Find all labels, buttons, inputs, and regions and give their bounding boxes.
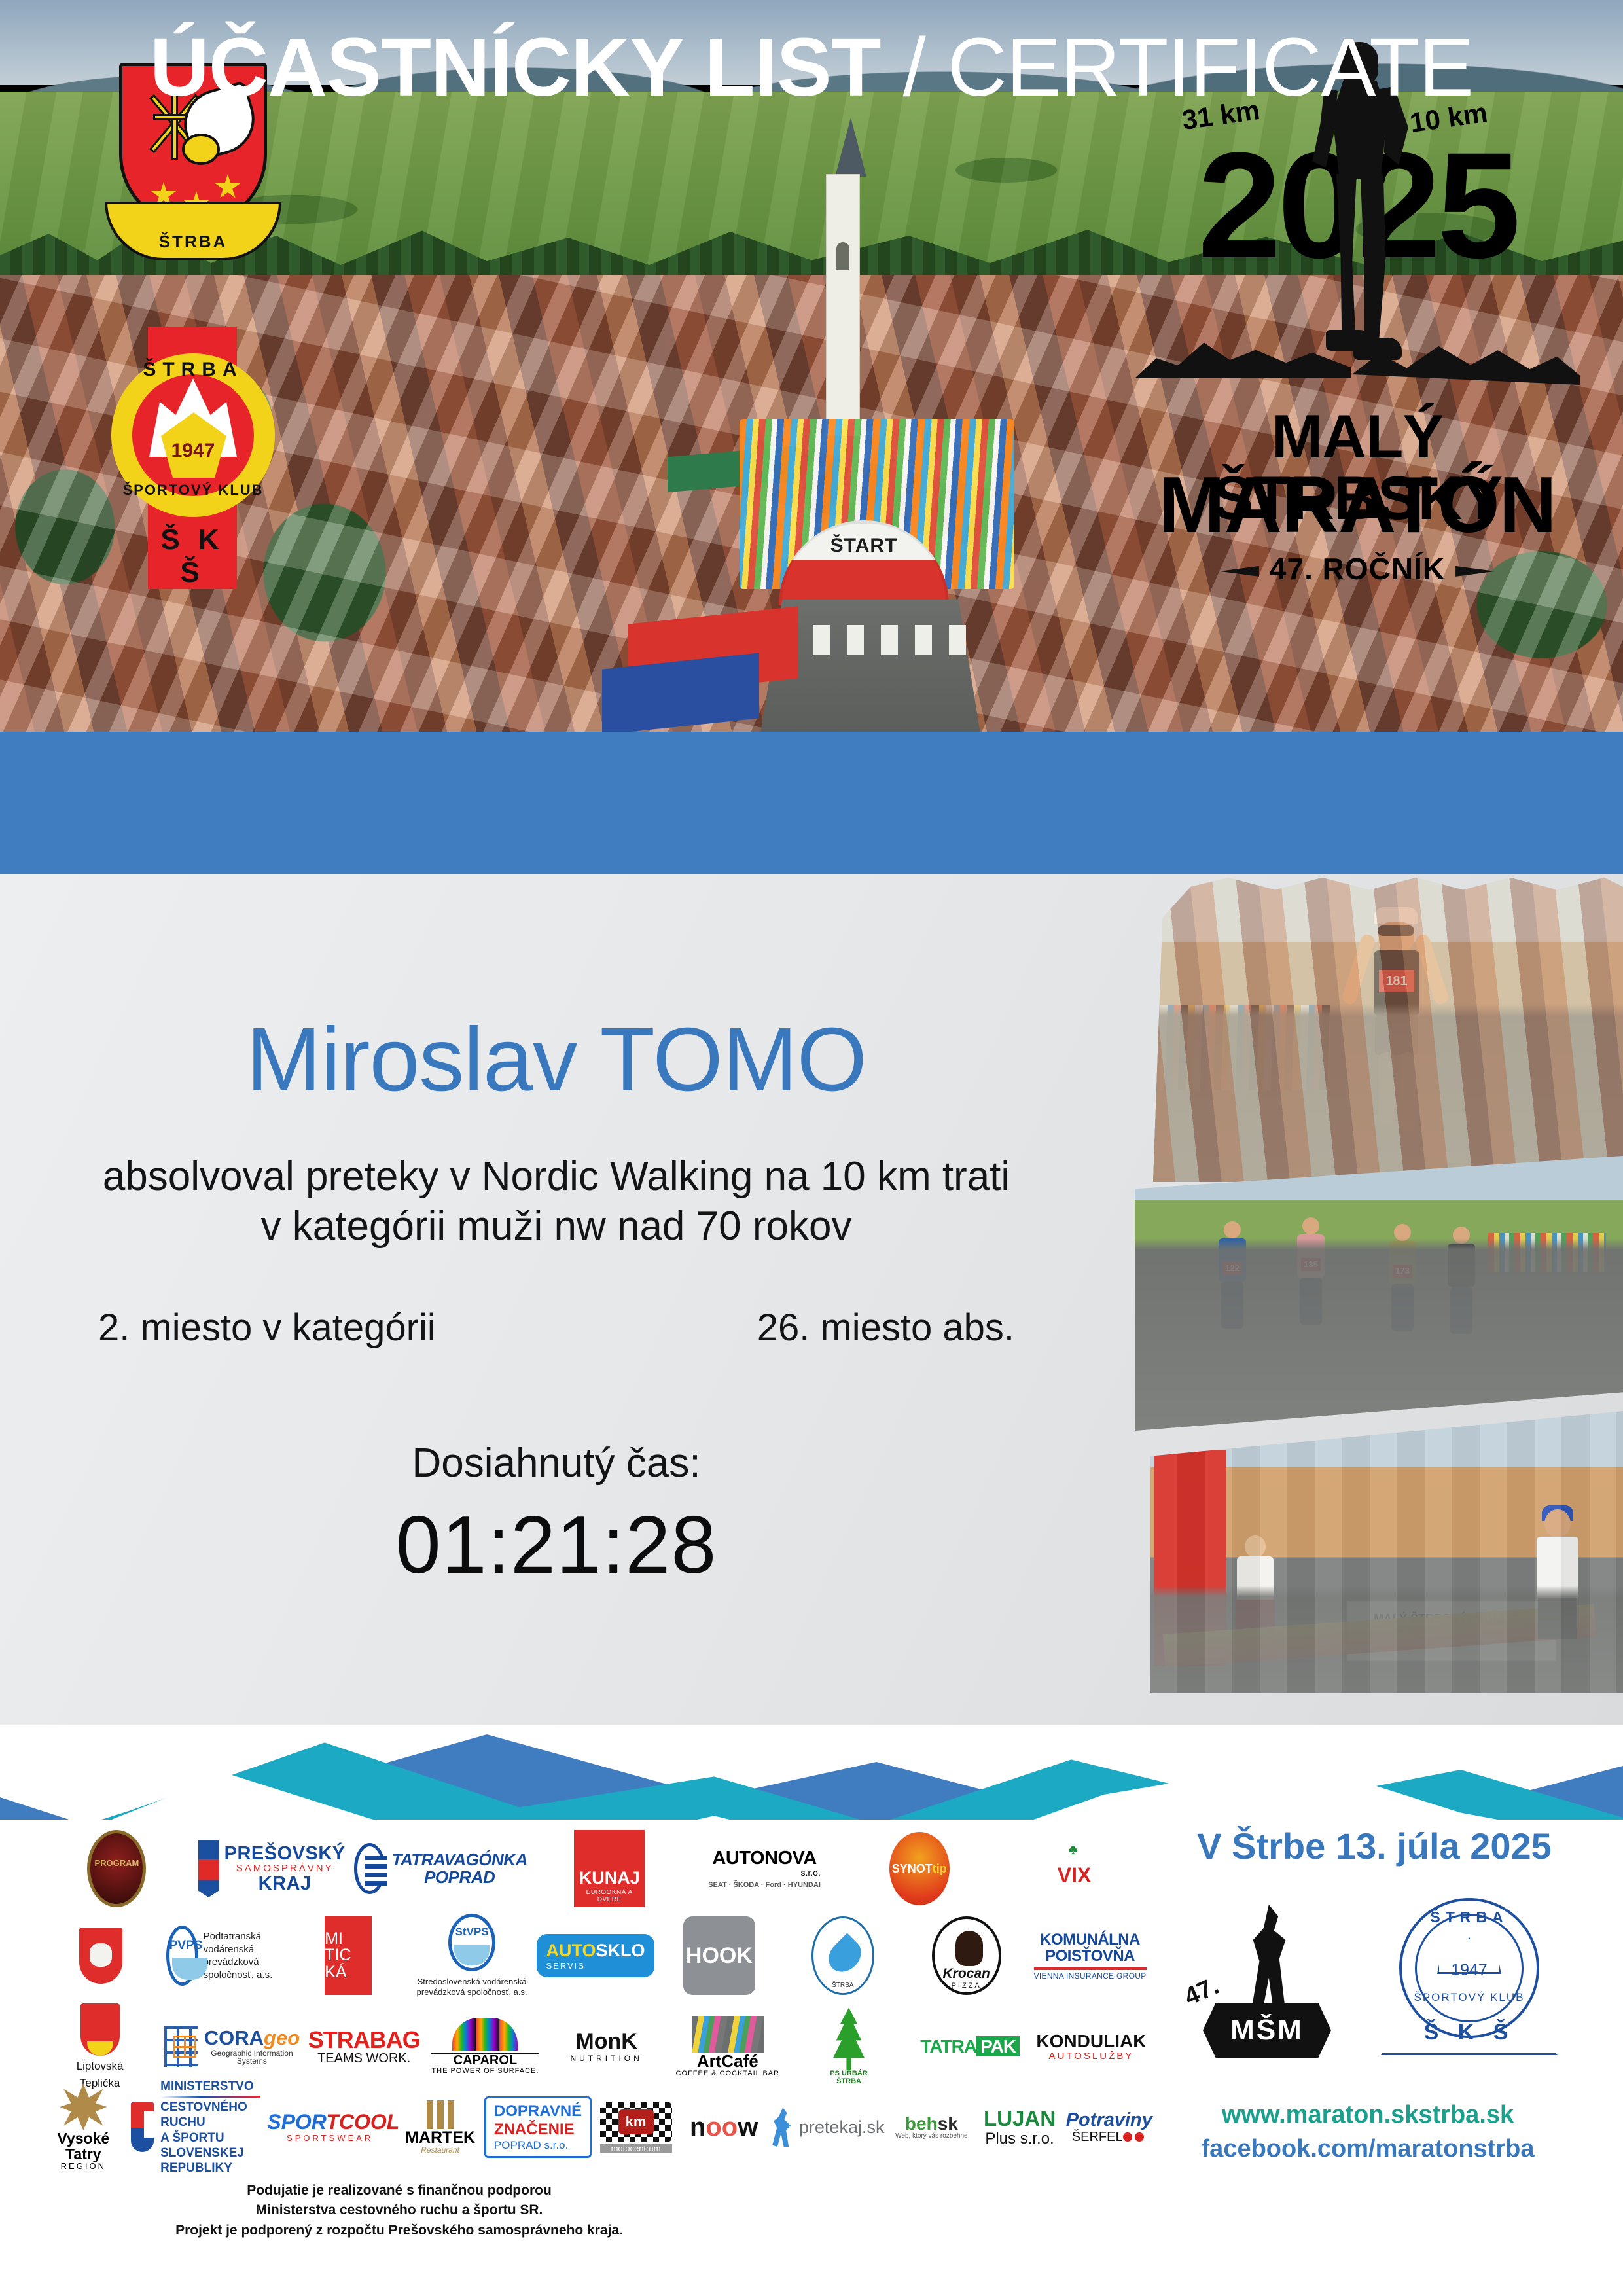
autosklo-name2: SKLO bbox=[596, 1941, 645, 1960]
placements: 2. miesto v kategórii 26. miesto abs. bbox=[0, 1306, 1113, 1350]
konduliak-sub: AUTOSLUŽBY bbox=[1036, 2051, 1146, 2062]
sponsor-synottip: SYNOTtip bbox=[842, 1826, 997, 1911]
krocan-logo-icon: Krocan PIZZA bbox=[932, 1916, 1001, 1995]
potraviny-name: Potraviny bbox=[1066, 2110, 1150, 2130]
photo-runners-on-road: 122 135 173 bbox=[1135, 1156, 1623, 1431]
sponsor-vix: ♣ VIX bbox=[997, 1826, 1152, 1911]
absolute-place: 26. miesto abs. bbox=[757, 1306, 1014, 1350]
dz-name: DOPRAVNÉ bbox=[494, 2102, 582, 2120]
club-stamp-icon: ŠTRBA 1947 ŠPORTOVÝ KLUB Š K Š bbox=[1381, 1898, 1558, 2068]
kunaj-logo-icon: KUNAJ EUROOKNÁ A DVERE bbox=[574, 1830, 645, 1907]
sponsor-artcafe: ArtCafé COFFEE & COCKTAIL BAR bbox=[667, 2004, 788, 2089]
sponsor-vysoke-tatry: Vysoké Tatry REGIÓN bbox=[39, 2088, 128, 2166]
sponsor-martek: MARTEK Restaurant bbox=[396, 2088, 484, 2166]
title-sk: ÚČASTNÍCKY LIST bbox=[150, 21, 881, 113]
vt-name: Vysoké Tatry bbox=[41, 2130, 125, 2162]
caparol-sub: THE POWER OF SURFACE. bbox=[431, 2068, 539, 2075]
photo-collage: 181 122 135 173 MALÝ ŠTRBSKÝ MARATÓN bbox=[1106, 874, 1623, 1699]
description-line-2: v kategórii muži nw nad 70 rokov bbox=[0, 1202, 1113, 1251]
sponsor-grid: PROGRAM PREŠOVSKÝ SAMOSPRÁVNY KRAJ bbox=[39, 1820, 1152, 2186]
finish-banner-text: MALÝ ŠTRBSKÝ MARATÓN bbox=[1348, 1610, 1555, 1628]
bib-number-b: 135 bbox=[1301, 1258, 1321, 1271]
event-logo: 2025 31 km 10 km MALÝ ŠTRBSKÝ MARATÓN 47… bbox=[1128, 39, 1586, 589]
turkey-icon bbox=[955, 1931, 983, 1966]
artcafe-sub: COFFEE & COCKTAIL BAR bbox=[676, 2070, 780, 2078]
achievement-description: absolvoval preteky v Nordic Walking na 1… bbox=[0, 1152, 1113, 1251]
support-statement: Podujatie je realizované s finančnou pod… bbox=[39, 2181, 759, 2240]
vt-sub: REGIÓN bbox=[41, 2162, 125, 2171]
strba-shield-icon bbox=[79, 1928, 122, 1984]
finish-arch bbox=[1154, 1450, 1226, 1666]
sponsor-km-motocentrum: km motocentrum bbox=[592, 2088, 680, 2166]
recipient-name: Miroslav TOMO bbox=[0, 1008, 1113, 1112]
stamp-bottom-text: Š K Š bbox=[1381, 2020, 1558, 2045]
artcafe-name: ArtCafé bbox=[676, 2053, 780, 2070]
sponsor-komunalna-poistovna: KOMUNÁLNA POISŤOVŇA VIENNA INSURANCE GRO… bbox=[1028, 1910, 1152, 2001]
footer-right: V Štrbe 13. júla 2025 47. MŠM ŠTRBA 1947… bbox=[1158, 1820, 1590, 2296]
krocan-name: Krocan bbox=[935, 1966, 999, 1982]
dz-sub: POPRAD s.r.o. bbox=[494, 2139, 582, 2152]
sportcool-sub: SPORTSWEAR bbox=[267, 2134, 393, 2143]
edelweiss-icon bbox=[60, 2083, 107, 2130]
lujan-name: LUJAN bbox=[984, 2108, 1056, 2130]
club-logo-bottom-text: ŠPORTOVÝ KLUB bbox=[111, 482, 275, 499]
sponsor-presovsky-kraj: PREŠOVSKÝ SAMOSPRÁVNY KRAJ bbox=[194, 1826, 349, 1911]
cora-sub: Geographic Information Systems bbox=[204, 2049, 300, 2066]
event-edition: 47. ROČNÍK bbox=[1128, 551, 1586, 586]
stvps-emblem-icon: StVPS bbox=[448, 1914, 495, 1971]
coat-of-arms-label: ŠTRBA bbox=[107, 232, 279, 252]
arrow-right-icon bbox=[1455, 566, 1495, 577]
stamp-middle-text: ŠPORTOVÝ KLUB bbox=[1399, 1991, 1539, 2004]
pvps-sub: Podtatranská vodárenská bbox=[204, 1930, 283, 1956]
sponsor-strba-shield bbox=[39, 1910, 163, 2001]
min-sub: CESTOVNÉHO RUCHU bbox=[160, 2100, 260, 2130]
sponsor-row-2: PVPS Podtatranská vodárenská prevádzková… bbox=[39, 1910, 1152, 2001]
runner-b: 135 bbox=[1292, 1217, 1329, 1335]
msm-badge-icon: 47. MŠM bbox=[1185, 1905, 1348, 2062]
stvps-name: StVPS bbox=[452, 1926, 492, 1938]
stvps-sub: Stredoslovenská vodárenská bbox=[417, 1977, 527, 1987]
autonova-brands: SEAT · ŠKODA · Ford · HYUNDAI bbox=[708, 1882, 821, 1890]
bib-number: 181 bbox=[1379, 970, 1414, 992]
finish-banner: MALÝ ŠTRBSKÝ MARATÓN bbox=[1347, 1601, 1556, 1661]
caparol-name: CAPAROL bbox=[431, 2053, 539, 2068]
noow-name: n bbox=[690, 2113, 705, 2142]
tatravagonka-sub: POPRAD bbox=[392, 1869, 527, 1886]
noow-name3: w bbox=[738, 2113, 758, 2142]
vix-name: VIX bbox=[1036, 1863, 1113, 1888]
cora-name: CORA bbox=[204, 2026, 264, 2049]
stamp-year: 1947 bbox=[1415, 1961, 1524, 1980]
club-logo-top-text: ŠTRBA bbox=[111, 359, 275, 381]
cora-name2: geo bbox=[264, 2026, 300, 2049]
support-line-2: Ministerstva cestovného ruchu a športu S… bbox=[39, 2200, 759, 2220]
photo-female-finisher: 181 bbox=[1153, 874, 1623, 1182]
min-name: MINISTERSTVO bbox=[160, 2079, 260, 2094]
arrow-left-icon bbox=[1220, 566, 1259, 577]
kp-name2: POISŤOVŇA bbox=[1034, 1948, 1147, 1964]
tatravagonka-name: TATRAVAGÓNKA bbox=[392, 1851, 527, 1869]
vix-logo-icon: ♣ VIX bbox=[1036, 1835, 1113, 1903]
runner-d bbox=[1442, 1227, 1479, 1344]
photo-male-winner: MALÝ ŠTRBSKÝ MARATÓN bbox=[1150, 1411, 1623, 1693]
sponsor-dopravne-znacenie: DOPRAVNÉ ZNAČENIE POPRAD s.r.o. bbox=[484, 2088, 592, 2166]
sponsor-monk: MonK NUTRITION bbox=[546, 2004, 667, 2089]
synottip-name2: tip bbox=[933, 1862, 947, 1875]
km-sub: motocentrum bbox=[600, 2144, 672, 2153]
strabag-sub: TEAMS WORK. bbox=[308, 2052, 420, 2066]
sportcool-name: SPOR bbox=[267, 2110, 326, 2134]
sponsor-ps-urbar-strba: PS URBÁR ŠTRBA bbox=[788, 2004, 909, 2089]
bib-number-a: 122 bbox=[1222, 1262, 1242, 1275]
sponsor-row-4: Vysoké Tatry REGIÓN MINISTERSTVO CESTOVN… bbox=[39, 2088, 1152, 2166]
sponsor-sportcool: SPORTCOOL SPORTSWEAR bbox=[264, 2088, 396, 2166]
sponsor-autosklo: AUTOSKLO SERVIS bbox=[534, 1910, 658, 2001]
sponsor-kunaj: KUNAJ EUROOKNÁ A DVERE bbox=[532, 1826, 687, 1911]
sponsor-row-3: Liptovská Teplička CORAgeo Geographic In… bbox=[39, 2004, 1152, 2089]
behsk-name: beh bbox=[905, 2113, 938, 2134]
program-trencin-logo-icon: PROGRAM bbox=[87, 1830, 146, 1907]
bib-number-c: 173 bbox=[1393, 1265, 1412, 1278]
sponsor-ministerstvo: MINISTERSTVO CESTOVNÉHO RUCHU A ŠPORTU S… bbox=[128, 2088, 264, 2166]
caparol-elephant-icon bbox=[452, 2018, 518, 2051]
msm-abbrev: MŠM bbox=[1203, 2003, 1331, 2058]
crosswalk bbox=[779, 625, 969, 655]
liptovska-shield-icon bbox=[80, 2003, 120, 2056]
event-edition-label: 47. ROČNÍK bbox=[1270, 552, 1445, 586]
event-name-line2: MARATÓN bbox=[1128, 465, 1586, 545]
facebook-link[interactable]: facebook.com/maratonstrba bbox=[1139, 2135, 1597, 2163]
martek-name: MARTEK bbox=[405, 2129, 475, 2146]
monk-sub: NUTRITION bbox=[570, 2054, 642, 2063]
program-trencin-label: PROGRAM bbox=[90, 1858, 143, 1868]
title-en: CERTIFICATE bbox=[948, 21, 1473, 113]
support-line-3: Projekt je podporený z rozpočtu Prešovsk… bbox=[39, 2221, 759, 2240]
sports-club-logo-icon: ŠTRBA 1947 ŠPORTOVÝ KLUB Š K Š bbox=[98, 327, 288, 589]
miticka-name: MI TIC KÁ bbox=[325, 1931, 372, 1981]
page-title: ÚČASTNÍCKY LIST / CERTIFICATE bbox=[0, 20, 1623, 115]
monk-name: MonK bbox=[570, 2030, 642, 2054]
liptovska-name: Liptovská bbox=[77, 2060, 124, 2073]
pd-strba-logo-icon: ŠTRBA bbox=[811, 1916, 874, 1995]
sponsor-corageo: CORAgeo Geographic Information Systems bbox=[160, 2004, 303, 2089]
lujan-sub: Plus s.r.o. bbox=[984, 2130, 1056, 2147]
slovak-coat-of-arms-icon bbox=[131, 2102, 154, 2152]
category-place: 2. miesto v kategórii bbox=[98, 1306, 436, 1350]
sponsor-konduliak: KONDULIAK AUTOSLUŽBY bbox=[1031, 2004, 1152, 2089]
finisher-figure: 181 bbox=[1346, 907, 1444, 1149]
presovsky-sub: SAMOSPRÁVNY bbox=[224, 1863, 346, 1874]
sponsor-tatrapak: TATRAPAK bbox=[910, 2004, 1031, 2089]
runners-icon bbox=[771, 2108, 794, 2147]
sponsor-beh-sk: behsk Web, ktorý vás rozbehne bbox=[887, 2088, 976, 2166]
date-place: V Štrbe 13. júla 2025 bbox=[1158, 1825, 1590, 1867]
potraviny-sub: ŠERFEL bbox=[1072, 2130, 1123, 2144]
urbar-sub: ŠTRBA bbox=[829, 2078, 868, 2086]
finish-time: 01:21:28 bbox=[0, 1499, 1113, 1592]
noow-name2: oo bbox=[705, 2113, 738, 2142]
km-name: km bbox=[618, 2109, 654, 2134]
sponsor-miticka: MI TIC KÁ bbox=[287, 1910, 410, 2001]
sponsor-autonova: AUTONOVA s.r.o. SEAT · ŠKODA · Ford · HY… bbox=[687, 1826, 842, 1911]
club-logo-year: 1947 bbox=[132, 440, 254, 462]
behsk-name2: sk bbox=[938, 2113, 958, 2134]
miticka-logo-icon: MI TIC KÁ bbox=[325, 1916, 372, 1995]
dopravne-znacenie-logo-icon: DOPRAVNÉ ZNAČENIE POPRAD s.r.o. bbox=[484, 2096, 592, 2158]
autonova-name: AUTONOVA bbox=[708, 1848, 821, 1868]
dz-name2: ZNAČENIE bbox=[494, 2121, 575, 2138]
folk-costume-girl bbox=[1229, 1535, 1281, 1666]
sponsor-program-trencin: PROGRAM bbox=[39, 1826, 194, 1911]
sponsor-liptovska-teplicka: Liptovská Teplička bbox=[39, 2004, 160, 2089]
sponsor-stvps: StVPS Stredoslovenská vodárenská prevádz… bbox=[410, 1910, 534, 2001]
tree-icon bbox=[829, 2007, 868, 2070]
vix-clover-icon: ♣ bbox=[1069, 1841, 1078, 1858]
kunaj-name: KUNAJ bbox=[574, 1868, 645, 1888]
hook-name: HOOK bbox=[686, 1943, 753, 1969]
sponsor-lujan: LUJAN Plus s.r.o. bbox=[976, 2088, 1064, 2166]
krocan-sub: PIZZA bbox=[935, 1982, 999, 1990]
sportcool-name2: TCOOL bbox=[326, 2110, 399, 2134]
finish-tape bbox=[1163, 1604, 1596, 1667]
start-arch-label: ŠTART bbox=[779, 535, 949, 557]
runner-pack bbox=[1488, 1233, 1606, 1272]
pd-strba-sub: ŠTRBA bbox=[813, 1982, 872, 1989]
stamp-top-text: ŠTRBA bbox=[1399, 1909, 1539, 1926]
kp-name: KOMUNÁLNA bbox=[1034, 1931, 1147, 1948]
pvps-sub2: prevádzková spoločnosť, a.s. bbox=[204, 1956, 283, 1981]
spectators bbox=[1160, 1005, 1330, 1090]
hook-logo-icon: HOOK bbox=[683, 1916, 755, 1995]
artcafe-bars-icon bbox=[692, 2016, 764, 2053]
sponsor-noow: noow bbox=[680, 2088, 768, 2166]
sponsor-caparol: CAPAROL THE POWER OF SURFACE. bbox=[425, 2004, 546, 2089]
sponsor-krocan: Krocan PIZZA bbox=[904, 1910, 1028, 2001]
behsk-sub: Web, ktorý vás rozbehne bbox=[895, 2133, 967, 2140]
title-separator: / bbox=[881, 21, 948, 113]
pvps-emblem-icon: PVPS bbox=[166, 1926, 198, 1986]
support-line-1: Podujatie je realizované s finančnou pod… bbox=[39, 2181, 759, 2200]
winner-figure bbox=[1517, 1509, 1596, 1679]
sponsor-row-1: PROGRAM PREŠOVSKÝ SAMOSPRÁVNY KRAJ bbox=[39, 1826, 1152, 1911]
strabag-name: STRABAG bbox=[308, 2028, 420, 2053]
presovsky-flag-icon bbox=[198, 1840, 219, 1897]
sponsor-hook: HOOK bbox=[657, 1910, 781, 2001]
time-label: Dosiahnutý čas: bbox=[0, 1440, 1113, 1486]
sponsor-pretekaj-sk: pretekaj.sk bbox=[768, 2088, 887, 2166]
runner-a: 122 bbox=[1213, 1221, 1250, 1339]
presovsky-sub2: KRAJ bbox=[224, 1874, 346, 1893]
min-sub2: A ŠPORTU bbox=[160, 2130, 260, 2145]
min-sub3: SLOVENSKEJ REPUBLIKY bbox=[160, 2145, 260, 2176]
kunaj-sub: EUROOKNÁ A DVERE bbox=[574, 1889, 645, 1903]
pretekaj-name: pretekaj.sk bbox=[799, 2118, 885, 2136]
presovsky-name: PREŠOVSKÝ bbox=[224, 1844, 346, 1863]
pvps-name: PVPS bbox=[169, 1939, 195, 1952]
synottip-logo-icon: SYNOTtip bbox=[889, 1832, 950, 1905]
kp-sub: VIENNA INSURANCE GROUP bbox=[1034, 1972, 1147, 1981]
description-line-1: absolvoval preteky v Nordic Walking na 1… bbox=[0, 1152, 1113, 1202]
sponsor-strabag: STRABAG TEAMS WORK. bbox=[304, 2004, 425, 2089]
footer: PROGRAM PREŠOVSKÝ SAMOSPRÁVNY KRAJ bbox=[0, 1820, 1623, 2296]
sponsor-pvps: PVPS Podtatranská vodárenská prevádzková… bbox=[163, 1910, 287, 2001]
autosklo-sub: SERVIS bbox=[546, 1961, 645, 1971]
tatravagonka-emblem-icon bbox=[354, 1843, 385, 1894]
konduliak-name: KONDULIAK bbox=[1036, 2032, 1146, 2051]
martek-sub: Restaurant bbox=[405, 2146, 475, 2155]
checkered-flag-icon: km bbox=[600, 2102, 672, 2142]
sponsor-pd-strba: ŠTRBA bbox=[781, 1910, 904, 2001]
synottip-name: SYNOT bbox=[892, 1862, 933, 1875]
corageo-grid-icon bbox=[164, 2026, 198, 2067]
tatrapak-name: TATRA bbox=[920, 2036, 976, 2056]
mountain-ridge-icon bbox=[1135, 321, 1580, 406]
runner-c: 173 bbox=[1383, 1224, 1420, 1342]
tatrapak-name2: PAK bbox=[976, 2036, 1020, 2056]
autonova-sub: s.r.o. bbox=[708, 1868, 821, 1878]
cutlery-icon bbox=[405, 2100, 475, 2129]
stvps-sub2: prevádzková spoločnosť, a.s. bbox=[417, 1987, 527, 1998]
website-link[interactable]: www.maraton.skstrba.sk bbox=[1139, 2101, 1597, 2129]
church-tower bbox=[811, 118, 890, 432]
sponsor-tatravagonka: TATRAVAGÓNKA POPRAD bbox=[349, 1826, 532, 1911]
autosklo-logo-icon: AUTOSKLO SERVIS bbox=[537, 1934, 654, 1977]
autosklo-name: AUTO bbox=[546, 1941, 596, 1960]
club-logo-abbrev: Š K Š bbox=[148, 524, 237, 589]
